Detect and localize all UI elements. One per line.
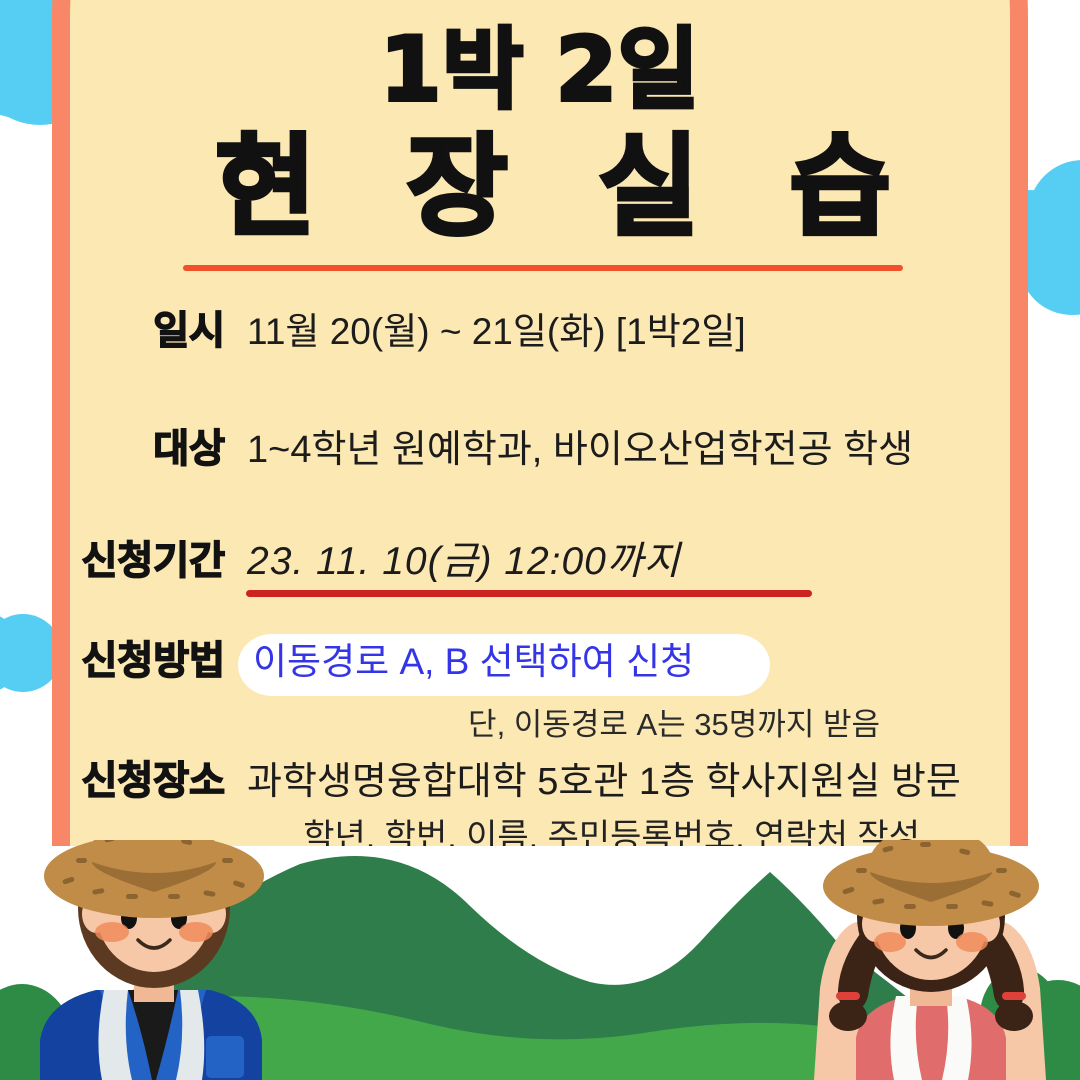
value-application-method: 이동경로 A, B 선택하여 신청: [253, 640, 694, 684]
value-date: 11월 20(월) ~ 21일(화) [1박2일]: [247, 310, 746, 354]
info-row-date: 일시 11월 20(월) ~ 21일(화) [1박2일]: [0, 310, 746, 354]
value-application-place: 과학생명융합대학 5호관 1층 학사지원실 방문: [247, 760, 961, 804]
application-period-underline: [246, 590, 812, 597]
label-target: 대상: [0, 428, 225, 472]
farmer-characters-illustration: [0, 840, 1080, 1080]
application-method-note: 단, 이동경로 A는 35명까지 받음: [0, 706, 880, 744]
info-row-application-method: 신청방법 이동경로 A, B 선택하여 신청: [0, 640, 694, 684]
title-divider: [183, 265, 903, 271]
label-application-method: 신청방법: [0, 640, 225, 684]
page-title-line2: 현 장 실 습: [0, 128, 1080, 246]
label-date: 일시: [0, 310, 225, 354]
info-row-application-period: 신청기간 23. 11. 10(금) 12:00까지: [0, 540, 681, 584]
info-row-target: 대상 1~4학년 원예학과, 바이오산업학전공 학생: [0, 428, 913, 472]
right-character: [814, 840, 1046, 1080]
value-target: 1~4학년 원예학과, 바이오산업학전공 학생: [247, 428, 913, 472]
value-application-period: 23. 11. 10(금) 12:00까지: [247, 540, 681, 584]
page-title-line1: 1박 2일: [0, 22, 1080, 118]
left-character: [40, 840, 264, 1080]
label-application-place: 신청장소: [0, 760, 225, 804]
label-application-period: 신청기간: [0, 540, 225, 584]
info-row-application-place: 신청장소 과학생명융합대학 5호관 1층 학사지원실 방문: [0, 760, 961, 804]
poster-canvas: 1박 2일 현 장 실 습 일시 11월 20(월) ~ 21일(화) [1박2…: [0, 0, 1080, 1080]
